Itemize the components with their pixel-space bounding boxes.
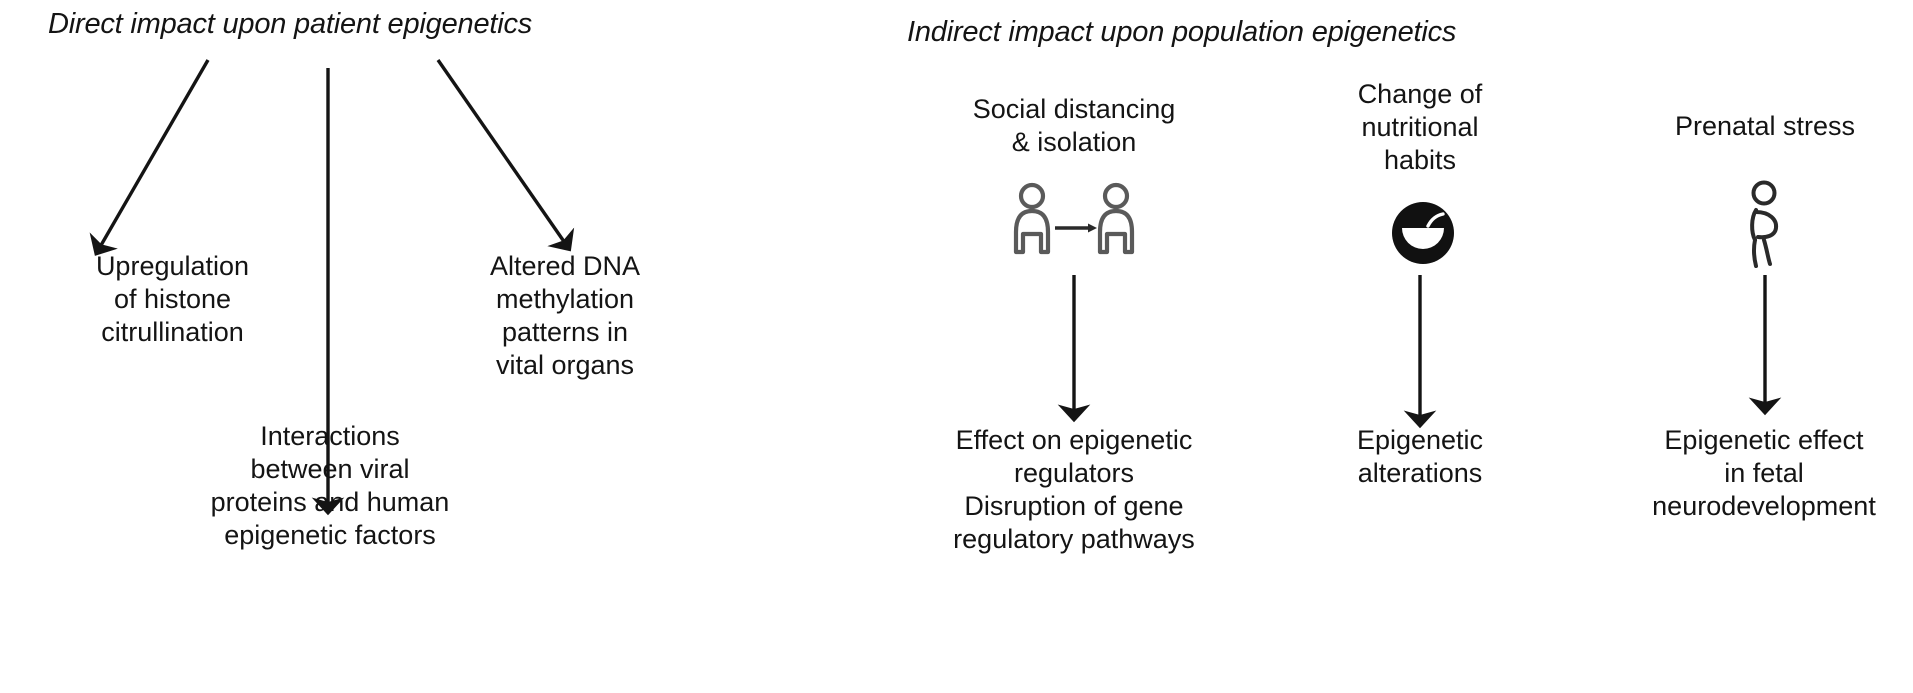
outcome-nutrition: Epigenetic alterations bbox=[1280, 424, 1560, 490]
pregnant-person-icon bbox=[1734, 180, 1798, 270]
node-interactions: Interactions between viral proteins and … bbox=[130, 420, 530, 552]
arrow-to-altered-dna bbox=[438, 60, 565, 243]
outcome-prenatal-stress: Epigenetic effect in fetal neurodevelopm… bbox=[1615, 424, 1913, 523]
figure-canvas: Direct impact upon patient epigenetics U… bbox=[0, 0, 1913, 693]
arrow-to-upregulation bbox=[100, 60, 208, 247]
two-people-icon bbox=[1010, 182, 1138, 260]
column-label-nutrition: Change of nutritional habits bbox=[1280, 78, 1560, 177]
bowl-icon bbox=[1388, 198, 1458, 268]
node-upregulation: Upregulation of histone citrullination bbox=[0, 250, 345, 349]
column-label-social-distancing: Social distancing & isolation bbox=[914, 93, 1234, 159]
outcome-social-distancing: Effect on epigenetic regulators Disrupti… bbox=[884, 424, 1264, 556]
panel-title-indirect: Indirect impact upon population epigenet… bbox=[907, 16, 1456, 49]
node-altered-dna: Altered DNA methylation patterns in vita… bbox=[400, 250, 730, 382]
panel-title-direct: Direct impact upon patient epigenetics bbox=[48, 8, 532, 41]
column-label-prenatal-stress: Prenatal stress bbox=[1625, 110, 1905, 143]
